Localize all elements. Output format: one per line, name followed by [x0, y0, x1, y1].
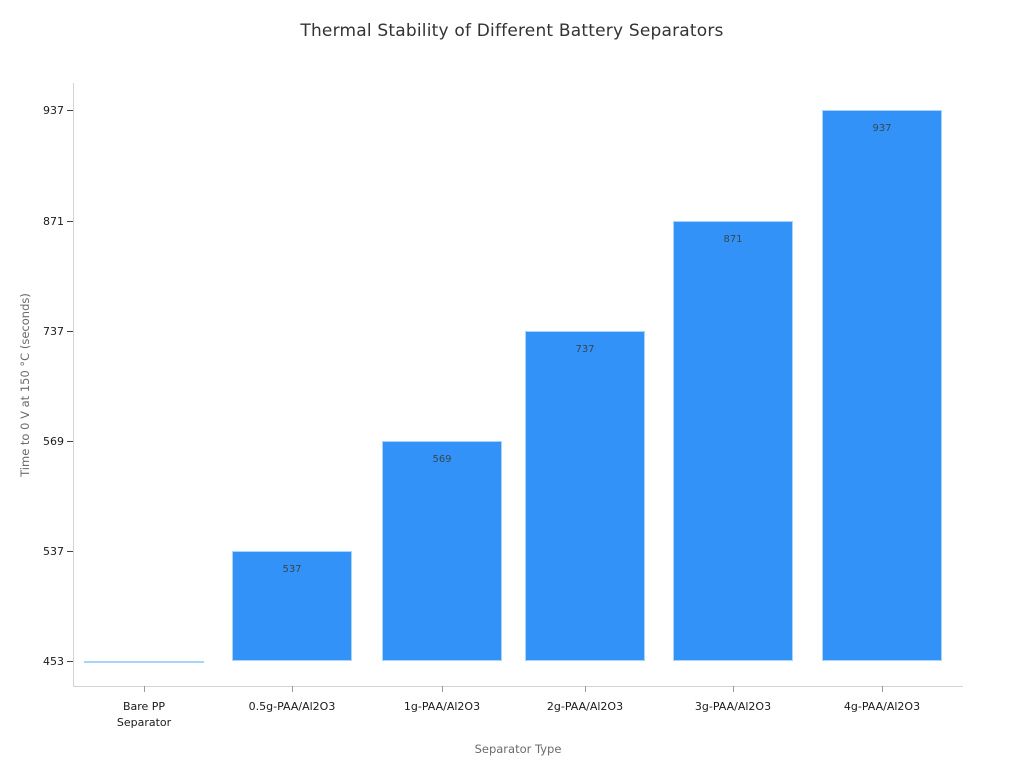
y-tick-5 [67, 661, 73, 662]
y-tick-2 [67, 331, 73, 332]
bar-2g-paa-al2o3[interactable] [525, 331, 645, 661]
y-tick-label-871: 871 [9, 215, 64, 228]
x-axis-spine [73, 686, 963, 687]
y-tick-1 [67, 221, 73, 222]
y-tick-label-453: 453 [9, 655, 64, 668]
y-tick-3 [67, 441, 73, 442]
bar-value-label-4g-paa-al2o3: 937 [872, 123, 891, 134]
x-tick-label-2g-paa-al2o3: 2g-PAA/Al2O3 [547, 699, 623, 715]
bar-value-label-1g-paa-al2o3: 569 [432, 454, 451, 465]
bar-4g-paa-al2o3[interactable] [822, 110, 942, 661]
x-tick-label-4g-paa-al2o3: 4g-PAA/Al2O3 [844, 699, 920, 715]
x-tick-label-1g-paa-al2o3: 1g-PAA/Al2O3 [404, 699, 480, 715]
x-axis-title: Separator Type [73, 742, 963, 756]
x-tick-label-3g-paa-al2o3: 3g-PAA/Al2O3 [695, 699, 771, 715]
bar-value-label-3g-paa-al2o3: 871 [723, 234, 742, 245]
y-tick-0 [67, 110, 73, 111]
y-tick-4 [67, 551, 73, 552]
bar-value-label-05g-paa-al2o3: 537 [282, 564, 301, 575]
bar-bare-pp-separator[interactable] [84, 661, 204, 663]
bar-value-label-2g-paa-al2o3: 737 [575, 344, 594, 355]
bar-1g-paa-al2o3[interactable] [382, 441, 502, 661]
x-tick-label-bare-pp-separator: Bare PP Separator [117, 699, 171, 731]
x-tick-1 [292, 686, 293, 692]
x-tick-4 [733, 686, 734, 692]
bar-3g-paa-al2o3[interactable] [673, 221, 793, 661]
x-tick-5 [882, 686, 883, 692]
chart-figure: Thermal Stability of Different Battery S… [0, 0, 1024, 768]
y-tick-label-537: 537 [9, 545, 64, 558]
x-tick-2 [442, 686, 443, 692]
y-tick-label-937: 937 [9, 104, 64, 117]
x-tick-0 [144, 686, 145, 692]
x-tick-3 [585, 686, 586, 692]
y-axis-title: Time to 0 V at 150 °C (seconds) [18, 235, 32, 535]
plot-area: 937 871 737 569 537 453 Bare PP Separato… [73, 83, 963, 686]
chart-title: Thermal Stability of Different Battery S… [0, 21, 1024, 41]
x-tick-label-05g-paa-al2o3: 0.5g-PAA/Al2O3 [249, 699, 336, 715]
